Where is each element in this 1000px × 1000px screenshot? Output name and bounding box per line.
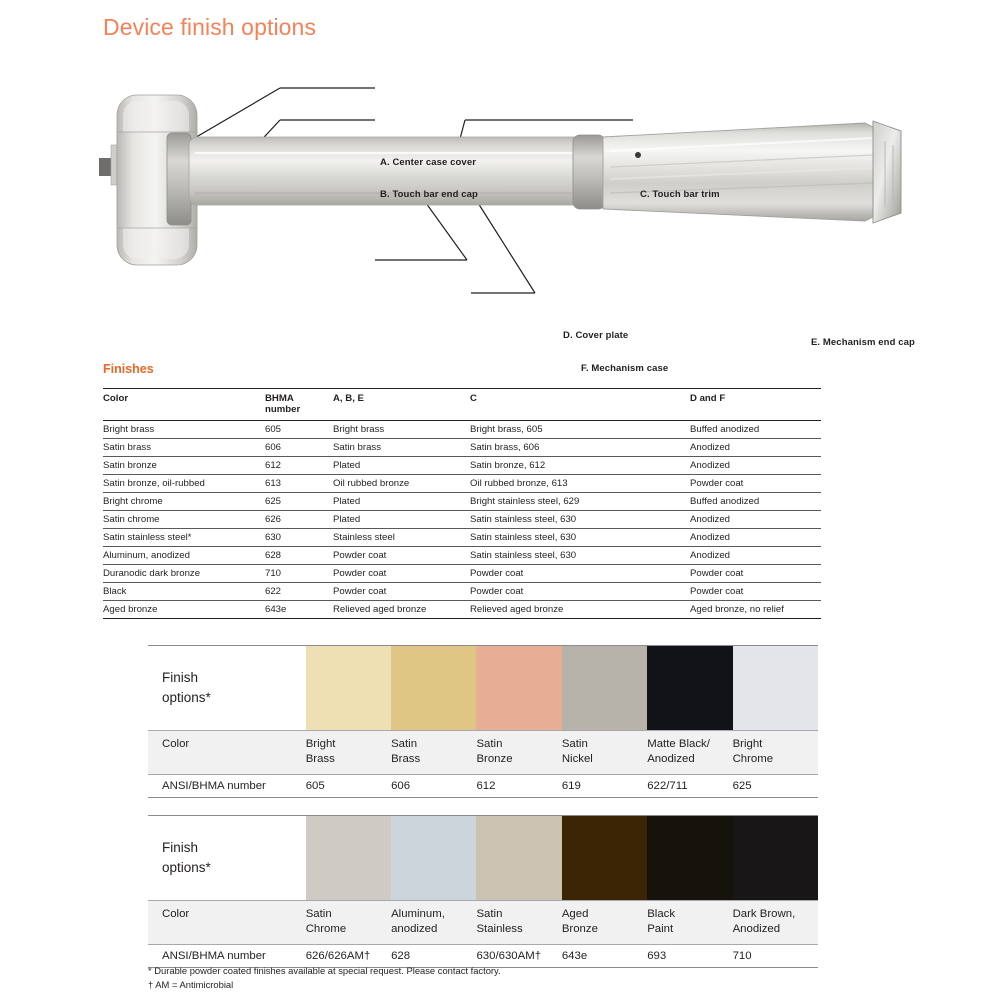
cell-c: Satin brass, 606 <box>470 439 690 457</box>
swatch-color-label: SatinChrome <box>306 901 391 945</box>
swatch-color-line2: Brass <box>306 753 335 765</box>
swatch-color-line1: Black <box>647 908 675 920</box>
callout-a-center-case-cover: A. Center case cover <box>380 157 476 168</box>
swatch-color-line2: anodized <box>391 923 437 935</box>
cell-color: Satin bronze <box>103 457 265 475</box>
cell-color: Bright brass <box>103 421 265 439</box>
cover-plate <box>573 135 605 209</box>
finish-swatch-bright <box>733 646 818 731</box>
header-bhma-line2: number <box>265 404 329 415</box>
swatch-color-label: BrightBrass <box>306 731 391 775</box>
cell-c: Powder coat <box>470 565 690 583</box>
table-row: Black622Powder coatPowder coatPowder coa… <box>103 583 821 601</box>
callout-f-mechanism-case: F. Mechanism case <box>581 363 668 374</box>
swatch-color-label: SatinBrass <box>391 731 476 775</box>
finishes-table-head: Color BHMAnumber A, B, E C D and F <box>103 389 821 421</box>
cell-color: Satin brass <box>103 439 265 457</box>
cell-bhma: 710 <box>265 565 333 583</box>
cell-abe: Oil rubbed bronze <box>333 475 470 493</box>
cell-bhma: 612 <box>265 457 333 475</box>
swatch-color-label: Aluminum,anodized <box>391 901 476 945</box>
cell-color: Satin bronze, oil-rubbed <box>103 475 265 493</box>
finish-options-table-2: Finish options* Color SatinChromeAluminu… <box>148 815 818 968</box>
swatch-color-line1: Dark Brown, <box>733 908 796 920</box>
cell-df: Buffed anodized <box>690 493 821 511</box>
cell-df: Aged bronze, no relief <box>690 601 821 619</box>
finish-swatch-dark-brown <box>733 816 818 901</box>
finish-swatch-satin <box>476 816 561 901</box>
cell-bhma: 605 <box>265 421 333 439</box>
finish-swatch-satin <box>476 646 561 731</box>
swatch-color-label: SatinStainless <box>476 901 561 945</box>
table-row: Satin stainless steel*630Stainless steel… <box>103 529 821 547</box>
swatch-color-line2: Chrome <box>306 923 347 935</box>
swatch-color-line1: Satin <box>391 738 417 750</box>
cell-c: Satin stainless steel, 630 <box>470 511 690 529</box>
cell-c: Bright stainless steel, 629 <box>470 493 690 511</box>
swatch-color-line1: Aged <box>562 908 589 920</box>
table-row: Satin bronze, oil-rubbed613Oil rubbed br… <box>103 475 821 493</box>
swatch-ansi-bhma-number: 710 <box>733 945 818 968</box>
swatch-color-label: SatinBronze <box>476 731 561 775</box>
cell-color: Black <box>103 583 265 601</box>
footnote-dagger: † AM = Antimicrobial <box>148 978 501 992</box>
table-row: Satin chrome626PlatedSatin stainless ste… <box>103 511 821 529</box>
finish-options-title-1-line2: options* <box>162 690 211 705</box>
cell-color: Duranodic dark bronze <box>103 565 265 583</box>
swatch-color-line2: Stainless <box>476 923 522 935</box>
finish-swatch-aluminum <box>391 816 476 901</box>
swatch-ansi-bhma-number: 606 <box>391 775 476 798</box>
swatch-ansi-bhma-number: 619 <box>562 775 647 798</box>
swatch-ansi-bhma-number: 693 <box>647 945 732 968</box>
swatch-row-color-1: Color BrightBrassSatinBrassSatinBronzeSa… <box>148 731 818 775</box>
swatch-color-line2: Brass <box>391 753 420 765</box>
swatch-color-line1: Matte Black/ <box>647 738 710 750</box>
cell-df: Powder coat <box>690 565 821 583</box>
finish-swatch-satin <box>391 646 476 731</box>
swatch-color-line1: Bright <box>306 738 336 750</box>
swatch-color-label: Matte Black/Anodized <box>647 731 732 775</box>
cell-color: Satin chrome <box>103 511 265 529</box>
cell-c: Bright brass, 605 <box>470 421 690 439</box>
swatch-color-label: BrightChrome <box>733 731 818 775</box>
header-df: D and F <box>690 389 821 421</box>
cell-df: Powder coat <box>690 475 821 493</box>
cell-bhma: 643e <box>265 601 333 619</box>
swatch-color-label: Dark Brown,Anodized <box>733 901 818 945</box>
swatch-row-chips-2: Finish options* <box>148 816 818 901</box>
finish-swatch-matte-black <box>647 646 732 731</box>
swatch-color-line1: Satin <box>562 738 588 750</box>
cell-df: Buffed anodized <box>690 421 821 439</box>
row-label-color-2: Color <box>148 901 306 945</box>
cell-bhma: 625 <box>265 493 333 511</box>
table-row: Duranodic dark bronze710Powder coatPowde… <box>103 565 821 583</box>
footnote-asterisk: * Durable powder coated finishes availab… <box>148 964 501 978</box>
touch-bar-end-cap <box>167 133 191 225</box>
cell-color: Satin stainless steel* <box>103 529 265 547</box>
cell-color: Aluminum, anodized <box>103 547 265 565</box>
swatch-color-line2: Anodized <box>647 753 695 765</box>
finish-options-title-2: Finish options* <box>148 816 306 901</box>
cell-color: Bright chrome <box>103 493 265 511</box>
device-drawing <box>95 75 925 315</box>
swatch-row-chips-1: Finish options* <box>148 646 818 731</box>
cell-abe: Powder coat <box>333 565 470 583</box>
row-label-number-1: ANSI/BHMA number <box>148 775 306 798</box>
callout-b-touch-bar-end-cap: B. Touch bar end cap <box>380 189 478 200</box>
swatch-color-line2: Paint <box>647 923 673 935</box>
finishes-header-row: Color BHMAnumber A, B, E C D and F <box>103 389 821 421</box>
table-row: Satin bronze612PlatedSatin bronze, 612An… <box>103 457 821 475</box>
finish-swatch-bright <box>306 646 391 731</box>
swatch-color-line2: Nickel <box>562 753 593 765</box>
cell-c: Powder coat <box>470 583 690 601</box>
header-c: C <box>470 389 690 421</box>
screw-detail <box>635 152 641 158</box>
finish-swatch-black <box>647 816 732 901</box>
swatch-color-label: AgedBronze <box>562 901 647 945</box>
header-color: Color <box>103 389 265 421</box>
cell-bhma: 622 <box>265 583 333 601</box>
cell-c: Oil rubbed bronze, 613 <box>470 475 690 493</box>
header-bhma-number: BHMAnumber <box>265 389 333 421</box>
cell-abe: Stainless steel <box>333 529 470 547</box>
cell-bhma: 613 <box>265 475 333 493</box>
finish-swatch-satin <box>306 816 391 901</box>
swatch-ansi-bhma-number: 625 <box>733 775 818 798</box>
cell-df: Anodized <box>690 529 821 547</box>
page-title: Device finish options <box>103 14 316 41</box>
swatch-color-line1: Satin <box>476 738 502 750</box>
swatch-row-color-2: Color SatinChromeAluminum,anodizedSatinS… <box>148 901 818 945</box>
swatch-ansi-bhma-number: 643e <box>562 945 647 968</box>
cell-color: Aged bronze <box>103 601 265 619</box>
header-bhma-line1: BHMA <box>265 393 294 404</box>
finishes-section-title: Finishes <box>103 362 154 376</box>
table-row: Bright chrome625PlatedBright stainless s… <box>103 493 821 511</box>
cell-c: Relieved aged bronze <box>470 601 690 619</box>
finish-options-title-2-line1: Finish <box>162 840 198 855</box>
cell-df: Anodized <box>690 457 821 475</box>
cell-df: Anodized <box>690 547 821 565</box>
exit-device-illustration: A. Center case cover B. Touch bar end ca… <box>95 75 925 315</box>
finish-options-table-1: Finish options* Color BrightBrassSatinBr… <box>148 645 818 798</box>
callout-d-cover-plate: D. Cover plate <box>563 330 628 341</box>
finishes-table: Color BHMAnumber A, B, E C D and F Brigh… <box>103 388 821 619</box>
cell-c: Satin stainless steel, 630 <box>470 529 690 547</box>
table-row: Aluminum, anodized628Powder coatSatin st… <box>103 547 821 565</box>
cell-bhma: 628 <box>265 547 333 565</box>
cell-bhma: 606 <box>265 439 333 457</box>
finish-options-title-2-line2: options* <box>162 860 211 875</box>
page-root: Device finish options <box>0 0 1000 1000</box>
cell-bhma: 626 <box>265 511 333 529</box>
cell-bhma: 630 <box>265 529 333 547</box>
swatch-color-label: BlackPaint <box>647 901 732 945</box>
swatch-color-line1: Satin <box>306 908 332 920</box>
swatch-color-line2: Bronze <box>476 753 512 765</box>
swatch-color-label: SatinNickel <box>562 731 647 775</box>
mechanism-case <box>603 123 885 221</box>
cell-abe: Relieved aged bronze <box>333 601 470 619</box>
swatch-row-number-1: ANSI/BHMA number 605606612619622/711625 <box>148 775 818 798</box>
cell-abe: Plated <box>333 511 470 529</box>
callout-c-touch-bar-trim: C. Touch bar trim <box>640 189 720 200</box>
cell-c: Satin stainless steel, 630 <box>470 547 690 565</box>
swatch-color-line1: Bright <box>733 738 763 750</box>
cell-df: Anodized <box>690 511 821 529</box>
table-row: Bright brass605Bright brassBright brass,… <box>103 421 821 439</box>
mechanism-end-cap <box>873 121 901 223</box>
swatch-ansi-bhma-number: 605 <box>306 775 391 798</box>
finish-swatch-satin <box>562 646 647 731</box>
swatch-ansi-bhma-number: 612 <box>476 775 561 798</box>
swatch-ansi-bhma-number: 622/711 <box>647 775 732 798</box>
finishes-table-body: Bright brass605Bright brassBright brass,… <box>103 421 821 619</box>
swatch-color-line1: Satin <box>476 908 502 920</box>
swatch-color-line1: Aluminum, <box>391 908 445 920</box>
table-row: Satin brass606Satin brassSatin brass, 60… <box>103 439 821 457</box>
cell-abe: Plated <box>333 457 470 475</box>
swatch-color-line2: Chrome <box>733 753 774 765</box>
cell-c: Satin bronze, 612 <box>470 457 690 475</box>
callout-e-mechanism-end-cap: E. Mechanism end cap <box>811 337 915 348</box>
swatch-color-line2: Anodized <box>733 923 781 935</box>
cell-df: Anodized <box>690 439 821 457</box>
cell-abe: Satin brass <box>333 439 470 457</box>
cell-abe: Powder coat <box>333 547 470 565</box>
cell-abe: Powder coat <box>333 583 470 601</box>
swatch-color-line2: Bronze <box>562 923 598 935</box>
table-row: Aged bronze643eRelieved aged bronzeRelie… <box>103 601 821 619</box>
cell-abe: Plated <box>333 493 470 511</box>
footnotes: * Durable powder coated finishes availab… <box>148 964 501 991</box>
finish-options-title-1: Finish options* <box>148 646 306 731</box>
cell-df: Powder coat <box>690 583 821 601</box>
finish-options-title-1-line1: Finish <box>162 670 198 685</box>
finish-swatch-aged <box>562 816 647 901</box>
header-abe: A, B, E <box>333 389 470 421</box>
row-label-color-1: Color <box>148 731 306 775</box>
cell-abe: Bright brass <box>333 421 470 439</box>
